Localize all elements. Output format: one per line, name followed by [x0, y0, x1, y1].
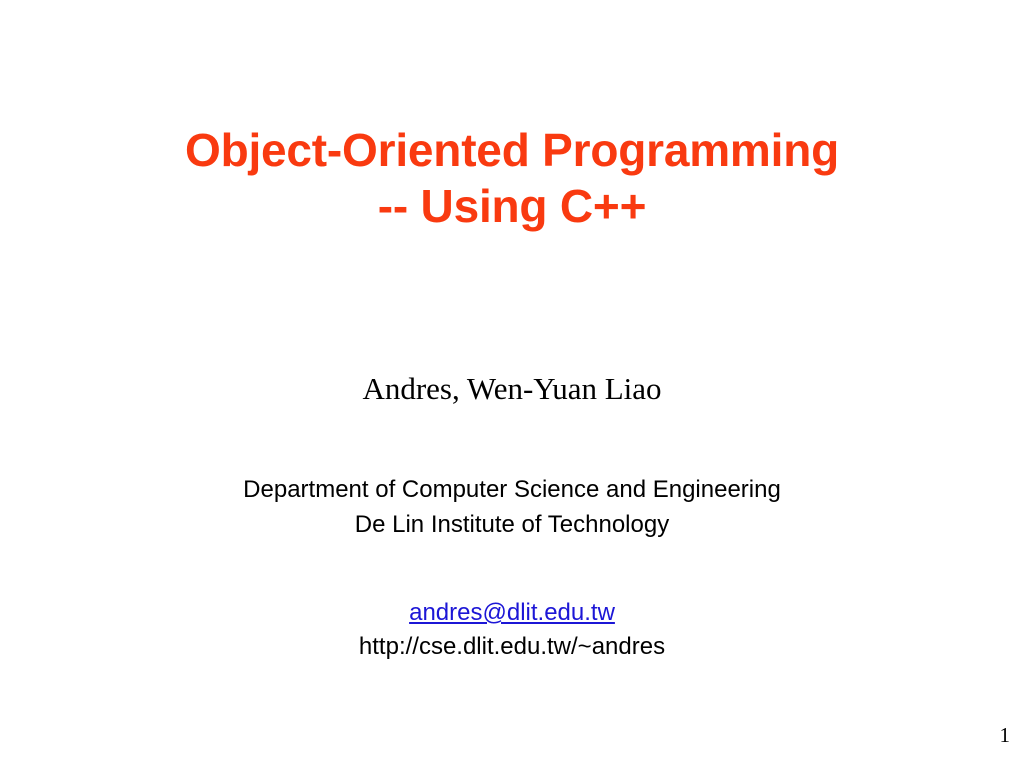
email-link-row: andres@dlit.edu.tw — [0, 596, 1024, 629]
affiliation-block: Department of Computer Science and Engin… — [0, 472, 1024, 542]
title-line-1: Object-Oriented Programming — [0, 122, 1024, 178]
slide-canvas: Object-Oriented Programming -- Using C++… — [0, 0, 1024, 768]
page-number: 1 — [1000, 722, 1011, 748]
title-line-2: -- Using C++ — [0, 178, 1024, 234]
institution-name: De Lin Institute of Technology — [0, 507, 1024, 542]
contact-block: andres@dlit.edu.tw http://cse.dlit.edu.t… — [0, 596, 1024, 664]
email-link[interactable]: andres@dlit.edu.tw — [409, 599, 615, 626]
author-name: Andres, Wen-Yuan Liao — [0, 370, 1024, 408]
slide-title: Object-Oriented Programming -- Using C++ — [0, 122, 1024, 234]
department-name: Department of Computer Science and Engin… — [0, 472, 1024, 507]
website-url: http://cse.dlit.edu.tw/~andres — [0, 629, 1024, 664]
